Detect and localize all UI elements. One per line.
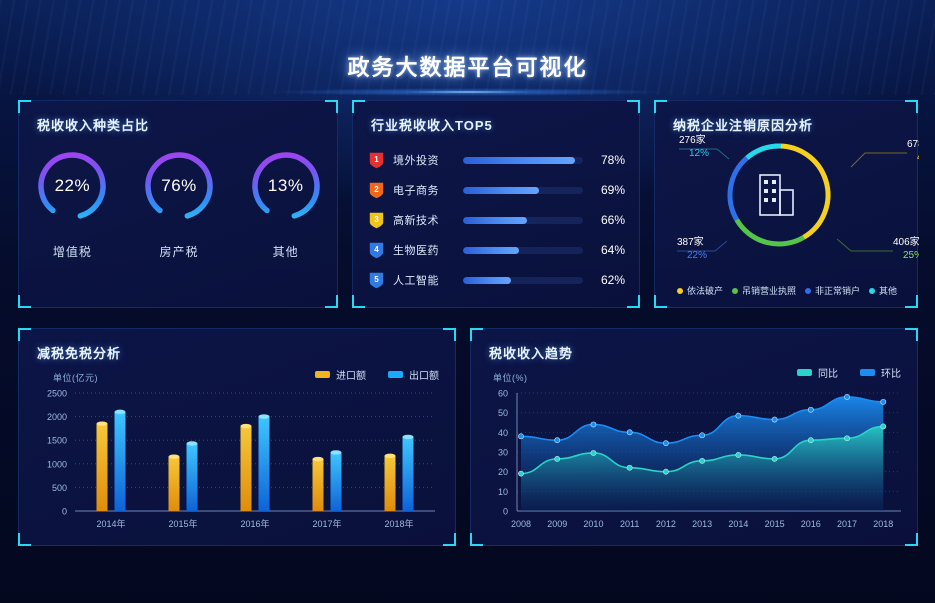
legend-label: 其他: [879, 284, 897, 297]
corner-bracket-icon: [352, 100, 365, 113]
chart-legend-item[interactable]: 环比: [860, 365, 901, 380]
bar-x-tick-label: 2017年: [312, 518, 341, 529]
gauge-label: 房产税: [160, 243, 199, 260]
corner-bracket-icon: [18, 328, 31, 341]
header-glow-decoration: [268, 88, 668, 96]
gauge-2: 76%房产税: [126, 149, 233, 299]
rank-industry-name: 生物医药: [393, 242, 455, 258]
dashboard-header: 政务大数据平台可视化: [0, 0, 935, 96]
gauge-ring: 13%: [249, 149, 323, 223]
dashboard-root: 政务大数据平台可视化 税收收入种类占比 22%增值税76%房产税13%其他 行业…: [0, 0, 935, 603]
line-x-tick-label: 2012: [656, 519, 676, 529]
line-x-tick-label: 2017: [837, 519, 857, 529]
panel-tax-trend: 税收收入趋势 单位(%) 同比环比 0102030405060200820092…: [470, 328, 918, 546]
gauge-ring: 22%: [35, 149, 109, 223]
chart-legend-item[interactable]: 同比: [797, 365, 838, 380]
ranking-list: 1境外投资78%2电子商务69%3高新技术66%4生物医药64%5人工智能62%: [369, 145, 625, 295]
legend-item[interactable]: 依法破产: [677, 284, 723, 297]
rank-percent: 64%: [591, 243, 625, 257]
line-y-tick-label: 60: [498, 389, 508, 399]
legend-dot-icon: [677, 288, 683, 294]
line-y-tick-label: 50: [498, 408, 508, 418]
gauge-value: 76%: [142, 149, 216, 223]
corner-bracket-icon: [325, 100, 338, 113]
gauge-label: 增值税: [53, 243, 92, 260]
panel-title-tax-reduction: 减税免税分析: [37, 343, 121, 362]
legend-label: 进口额: [336, 367, 366, 382]
donut-callout-percent: 43%: [917, 152, 919, 163]
rank-progress-fill: [463, 247, 519, 254]
gauge-group: 22%增值税76%房产税13%其他: [19, 149, 339, 299]
line-chart-plot: 0102030405060200820092010201120122013201…: [471, 385, 919, 541]
legend-label: 依法破产: [687, 284, 723, 297]
panel-title-top5: 行业税收收入TOP5: [371, 115, 493, 134]
donut-callout-count: 387家: [677, 235, 704, 248]
line-x-tick-label: 2014: [728, 519, 748, 529]
ranking-row[interactable]: 1境外投资78%: [369, 145, 625, 175]
donut-chart: 678家43%406家25%387家22%276家12%: [655, 123, 919, 273]
line-x-tick-label: 2015: [765, 519, 785, 529]
donut-callout-count: 406家: [893, 235, 919, 248]
line-y-tick-label: 30: [498, 448, 508, 458]
corner-bracket-icon: [627, 100, 640, 113]
panel-cancel-reason: 纳税企业注销原因分析 678家43%406家25%387家22%276家12% …: [654, 100, 918, 308]
corner-bracket-icon: [352, 295, 365, 308]
corner-bracket-icon: [905, 100, 918, 113]
ranking-row[interactable]: 3高新技术66%: [369, 205, 625, 235]
panel-industry-top5: 行业税收收入TOP5 1境外投资78%2电子商务69%3高新技术66%4生物医药…: [352, 100, 640, 308]
donut-callout-percent: 22%: [687, 250, 707, 261]
rank-progress-track: [463, 217, 583, 224]
ranking-row[interactable]: 4生物医药64%: [369, 235, 625, 265]
rank-progress-track: [463, 157, 583, 164]
rank-progress-fill: [463, 217, 527, 224]
bar-x-tick-label: 2014年: [96, 518, 125, 529]
rank-industry-name: 电子商务: [393, 182, 455, 198]
corner-bracket-icon: [654, 100, 667, 113]
bar-y-tick-label: 2500: [47, 389, 67, 399]
bar-y-tick-label: 1000: [47, 459, 67, 469]
panel-title-tax-trend: 税收收入趋势: [489, 343, 573, 362]
panel-tax-share: 税收收入种类占比 22%增值税76%房产税13%其他: [18, 100, 338, 308]
rank-number: 1: [369, 152, 384, 168]
legend-swatch-icon: [860, 369, 875, 376]
rank-industry-name: 境外投资: [393, 152, 455, 168]
gauge-value: 13%: [249, 149, 323, 223]
panel-title-tax-share: 税收收入种类占比: [37, 115, 149, 134]
gauge-3: 13%其他: [232, 149, 339, 299]
rank-shield-icon: 2: [369, 182, 384, 199]
line-x-tick-label: 2013: [692, 519, 712, 529]
line-y-tick-label: 0: [503, 507, 508, 517]
bar-x-tick-label: 2015年: [168, 518, 197, 529]
gauge-label: 其他: [273, 243, 299, 260]
bar-y-tick-label: 1500: [47, 436, 67, 446]
line-x-tick-label: 2018: [873, 519, 893, 529]
bar-chart-legend: 进口额出口额: [315, 367, 439, 382]
legend-label: 非正常销户: [815, 284, 860, 297]
bar-y-tick-label: 2000: [47, 412, 67, 422]
rank-progress-fill: [463, 187, 539, 194]
bar-x-tick-label: 2016年: [240, 518, 269, 529]
rank-progress-fill: [463, 277, 511, 284]
legend-item[interactable]: 其他: [869, 284, 897, 297]
rank-number: 5: [369, 272, 384, 288]
building-icon: [760, 175, 793, 215]
donut-legend: 依法破产吊销营业执照非正常销户其他: [655, 284, 919, 297]
line-y-tick-label: 40: [498, 428, 508, 438]
donut-callout-percent: 25%: [903, 250, 919, 261]
legend-label: 出口额: [409, 367, 439, 382]
line-chart-legend: 同比环比: [797, 365, 901, 380]
line-x-tick-label: 2009: [547, 519, 567, 529]
line-x-tick-label: 2008: [511, 519, 531, 529]
chart-legend-item[interactable]: 出口额: [388, 367, 439, 382]
line-x-tick-label: 2010: [583, 519, 603, 529]
rank-percent: 62%: [591, 273, 625, 287]
rank-progress-fill: [463, 157, 575, 164]
legend-swatch-icon: [388, 371, 403, 378]
legend-swatch-icon: [797, 369, 812, 376]
line-x-tick-label: 2011: [620, 519, 639, 529]
gauge-1: 22%增值税: [19, 149, 126, 299]
rank-number: 4: [369, 242, 384, 258]
donut-callout-count: 276家: [679, 133, 706, 146]
corner-bracket-icon: [18, 100, 31, 113]
donut-callout-count: 678家: [907, 137, 919, 150]
rank-percent: 78%: [591, 153, 625, 167]
legend-item[interactable]: 吊销营业执照: [732, 284, 796, 297]
corner-bracket-icon: [443, 328, 456, 341]
chart-legend-item[interactable]: 进口额: [315, 367, 366, 382]
legend-dot-icon: [805, 288, 811, 294]
rank-percent: 66%: [591, 213, 625, 227]
rank-industry-name: 人工智能: [393, 272, 455, 288]
rank-shield-icon: 4: [369, 242, 384, 259]
bar-y-tick-label: 500: [52, 483, 67, 493]
legend-dot-icon: [869, 288, 875, 294]
gauge-value: 22%: [35, 149, 109, 223]
bar-x-tick-label: 2018年: [384, 518, 413, 529]
donut-callout-percent: 12%: [689, 148, 709, 159]
legend-swatch-icon: [315, 371, 330, 378]
bar-chart-unit-label: 单位(亿元): [53, 371, 98, 384]
rank-number: 2: [369, 182, 384, 198]
bar-chart-plot: 050010001500200025002014年2015年2016年2017年…: [19, 385, 457, 541]
line-chart-unit-label: 单位(%): [493, 371, 528, 384]
bar-y-tick-label: 0: [62, 507, 67, 517]
rank-progress-track: [463, 187, 583, 194]
gauge-ring: 76%: [142, 149, 216, 223]
panel-tax-reduction: 减税免税分析 单位(亿元) 进口额出口额 0500100015002000250…: [18, 328, 456, 546]
line-x-tick-label: 2016: [801, 519, 821, 529]
line-y-tick-label: 20: [498, 467, 508, 477]
legend-dot-icon: [732, 288, 738, 294]
rank-industry-name: 高新技术: [393, 212, 455, 228]
legend-label: 吊销营业执照: [742, 284, 796, 297]
rank-percent: 69%: [591, 183, 625, 197]
corner-bracket-icon: [627, 295, 640, 308]
rank-shield-icon: 1: [369, 152, 384, 169]
legend-item[interactable]: 非正常销户: [805, 284, 860, 297]
line-y-tick-label: 10: [498, 487, 508, 497]
rank-progress-track: [463, 277, 583, 284]
ranking-row[interactable]: 5人工智能62%: [369, 265, 625, 295]
ranking-row[interactable]: 2电子商务69%: [369, 175, 625, 205]
rank-shield-icon: 3: [369, 212, 384, 229]
corner-bracket-icon: [470, 328, 483, 341]
legend-label: 环比: [881, 365, 901, 380]
rank-number: 3: [369, 212, 384, 228]
rank-shield-icon: 5: [369, 272, 384, 289]
legend-label: 同比: [818, 365, 838, 380]
corner-bracket-icon: [905, 328, 918, 341]
rank-progress-track: [463, 247, 583, 254]
page-title: 政务大数据平台可视化: [0, 50, 935, 82]
